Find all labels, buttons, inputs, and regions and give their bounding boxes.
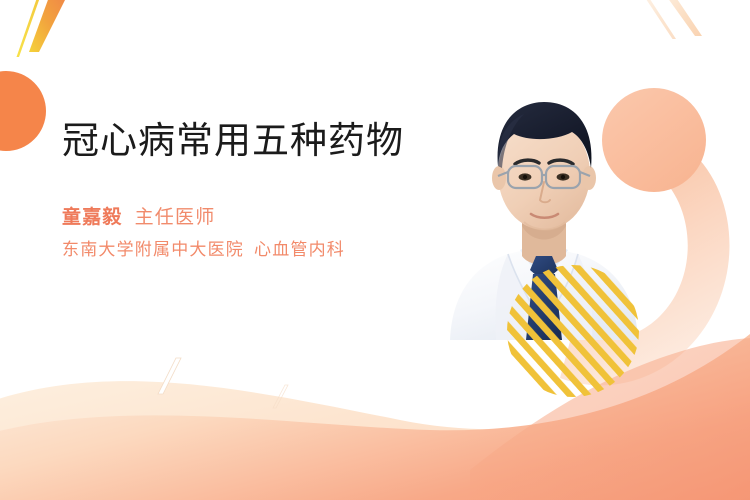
video-cover-card: 冠心病常用五种药物 童嘉毅主任医师 东南大学附属中大医院心血管内科 <box>0 0 750 500</box>
department-name: 心血管内科 <box>254 240 345 259</box>
hospital-name: 东南大学附属中大医院 <box>62 240 244 259</box>
doctor-byline: 童嘉毅主任医师 <box>62 201 432 235</box>
text-block: 冠心病常用五种药物 童嘉毅主任医师 东南大学附属中大医院心血管内科 <box>62 118 432 265</box>
page-title: 冠心病常用五种药物 <box>62 118 432 163</box>
doctor-affiliation: 东南大学附属中大医院心血管内科 <box>62 235 432 265</box>
doctor-portrait <box>432 78 652 340</box>
faint-diagonal-stripe-icon <box>158 358 288 408</box>
doctor-role: 主任医师 <box>135 207 216 228</box>
doctor-name: 童嘉毅 <box>62 207 123 228</box>
orange-diagonal-stripes-icon <box>17 0 73 57</box>
orange-circle-icon <box>0 71 46 151</box>
peach-diagonal-stripes-icon <box>640 0 702 39</box>
bottom-wave-shapes-icon <box>0 330 750 500</box>
